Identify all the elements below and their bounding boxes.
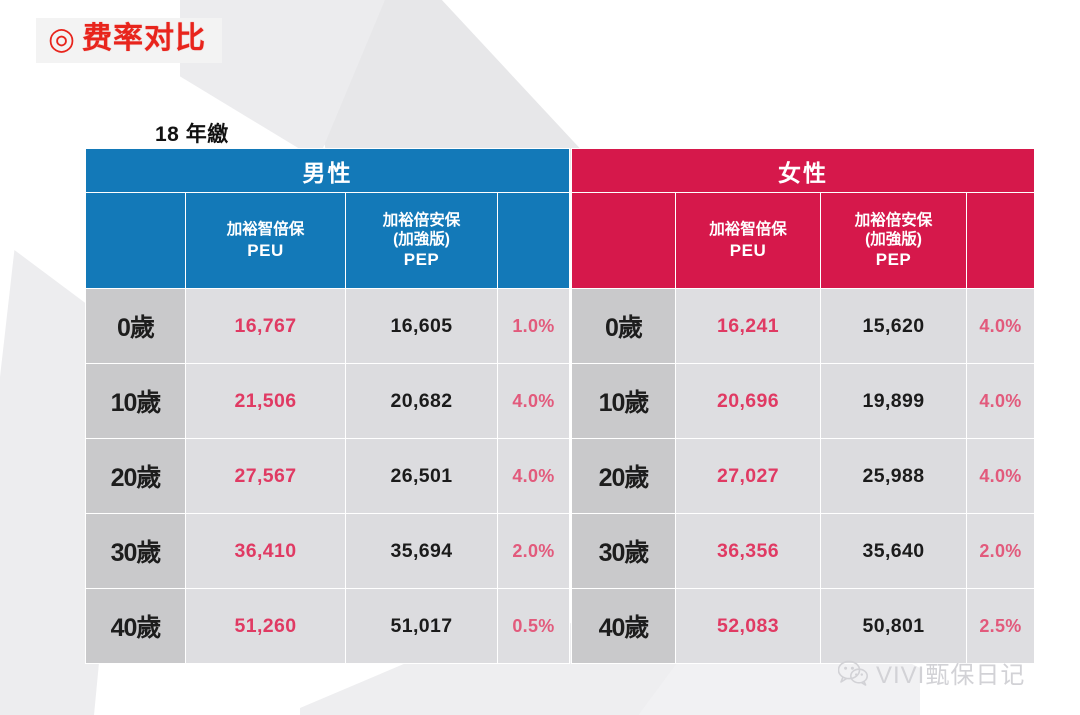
column-header-pep-female: 加裕倍安保 (加強版) PEP [821, 193, 967, 289]
column-header-age-male [86, 193, 186, 289]
pep-value: 19,899 [821, 364, 967, 439]
subtitle-payment-term: 18 年繳 [155, 118, 229, 151]
slide-title-block: ◎ 费率对比 [36, 18, 222, 63]
table-row: 20歲 27,027 25,988 4.0% [572, 439, 1035, 514]
pct-value: 4.0% [967, 364, 1035, 439]
bullet-circle-icon: ◎ [48, 23, 75, 54]
peu-name-cn-male: 加裕智倍保 [186, 220, 345, 239]
peu-value: 51,260 [186, 589, 346, 664]
peu-value: 36,410 [186, 514, 346, 589]
age-label: 40歲 [572, 589, 676, 664]
pep-value: 50,801 [821, 589, 967, 664]
table-row: 40歲 51,260 51,017 0.5% [86, 589, 570, 664]
age-label: 10歲 [572, 364, 676, 439]
age-label: 20歲 [86, 439, 186, 514]
peu-value: 27,567 [186, 439, 346, 514]
pep-value: 35,694 [346, 514, 498, 589]
peu-name-cn-female: 加裕智倍保 [676, 220, 820, 239]
table-header-gender-female: 女性 [572, 149, 1035, 193]
pct-value: 2.0% [967, 514, 1035, 589]
table-row: 30歲 36,356 35,640 2.0% [572, 514, 1035, 589]
table-row: 10歲 20,696 19,899 4.0% [572, 364, 1035, 439]
pep-value: 20,682 [346, 364, 498, 439]
gender-label-male: 男性 [86, 149, 570, 193]
age-label: 30歲 [572, 514, 676, 589]
pep-name-cn2-male: (加強版) [346, 230, 497, 249]
pep-value: 26,501 [346, 439, 498, 514]
peu-value: 16,241 [676, 289, 821, 364]
table-header-products-male: 加裕智倍保 PEU 加裕倍安保 (加強版) PEP [86, 193, 570, 289]
pep-value: 15,620 [821, 289, 967, 364]
pep-name-en-male: PEP [346, 249, 497, 270]
page-title: 费率对比 [82, 22, 206, 55]
age-label: 40歲 [86, 589, 186, 664]
peu-name-en-female: PEU [676, 240, 820, 261]
pct-value: 4.0% [498, 364, 570, 439]
pct-value: 4.0% [967, 289, 1035, 364]
peu-name-en-male: PEU [186, 240, 345, 261]
pep-name-cn-male: 加裕倍安保 [346, 211, 497, 230]
rate-table-female: 女性 加裕智倍保 PEU 加裕倍安保 (加強版) PEP 0歲 16,241 [571, 148, 1035, 664]
gender-label-female: 女性 [572, 149, 1035, 193]
table-row: 20歲 27,567 26,501 4.0% [86, 439, 570, 514]
slide-canvas: ◎ 费率对比 18 年繳 男性 加裕智倍保 PEU 加裕倍安保 (加強版) PE… [0, 0, 1080, 715]
column-header-peu-male: 加裕智倍保 PEU [186, 193, 346, 289]
age-label: 30歲 [86, 514, 186, 589]
pct-value: 2.0% [498, 514, 570, 589]
column-header-pct-male [498, 193, 570, 289]
peu-value: 27,027 [676, 439, 821, 514]
peu-value: 36,356 [676, 514, 821, 589]
pep-value: 16,605 [346, 289, 498, 364]
column-header-pep-male: 加裕倍安保 (加強版) PEP [346, 193, 498, 289]
table-row: 10歲 21,506 20,682 4.0% [86, 364, 570, 439]
pct-value: 4.0% [967, 439, 1035, 514]
peu-value: 21,506 [186, 364, 346, 439]
pct-value: 4.0% [498, 439, 570, 514]
peu-value: 16,767 [186, 289, 346, 364]
pep-name-cn2-female: (加強版) [821, 230, 966, 249]
rate-table-male: 男性 加裕智倍保 PEU 加裕倍安保 (加強版) PEP 0歲 16,767 [85, 148, 570, 664]
pep-name-cn-female: 加裕倍安保 [821, 211, 966, 230]
column-header-peu-female: 加裕智倍保 PEU [676, 193, 821, 289]
pep-value: 35,640 [821, 514, 967, 589]
pct-value: 1.0% [498, 289, 570, 364]
age-label: 0歲 [86, 289, 186, 364]
background-shape-top-right [300, 0, 600, 170]
table-row: 0歲 16,241 15,620 4.0% [572, 289, 1035, 364]
pep-value: 25,988 [821, 439, 967, 514]
column-header-age-female [572, 193, 676, 289]
peu-value: 52,083 [676, 589, 821, 664]
pep-value: 51,017 [346, 589, 498, 664]
pct-value: 2.5% [967, 589, 1035, 664]
table-row: 30歲 36,410 35,694 2.0% [86, 514, 570, 589]
age-label: 0歲 [572, 289, 676, 364]
table-header-products-female: 加裕智倍保 PEU 加裕倍安保 (加強版) PEP [572, 193, 1035, 289]
pct-value: 0.5% [498, 589, 570, 664]
pep-name-en-female: PEP [821, 249, 966, 270]
peu-value: 20,696 [676, 364, 821, 439]
table-header-gender-male: 男性 [86, 149, 570, 193]
age-label: 10歲 [86, 364, 186, 439]
table-row: 40歲 52,083 50,801 2.5% [572, 589, 1035, 664]
table-row: 0歲 16,767 16,605 1.0% [86, 289, 570, 364]
column-header-pct-female [967, 193, 1035, 289]
age-label: 20歲 [572, 439, 676, 514]
